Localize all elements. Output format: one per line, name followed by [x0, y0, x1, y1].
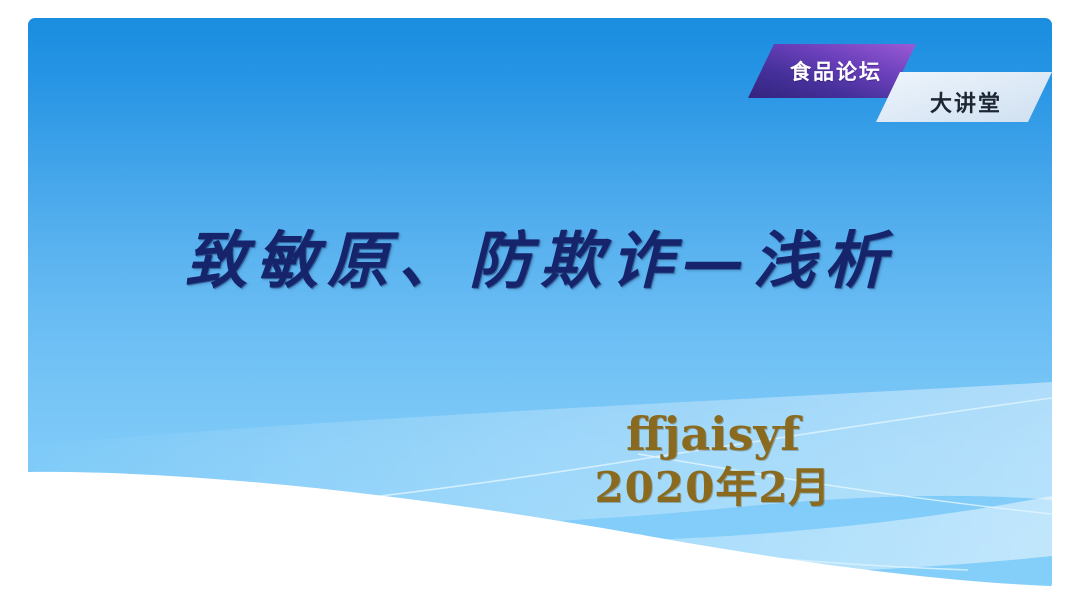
- slide-root: 食品论坛 大讲堂 致敏原、防欺诈—浅析 ffjaisyf 2020年2月: [0, 0, 1080, 608]
- byline-block: ffjaisyf 2020年2月: [498, 410, 928, 510]
- ribbon-badge-group: 食品论坛 大讲堂: [718, 36, 1052, 128]
- ribbon-forum-label: 食品论坛: [790, 56, 882, 86]
- slide-canvas: 食品论坛 大讲堂 致敏原、防欺诈—浅析 ffjaisyf 2020年2月: [28, 18, 1052, 590]
- byline-author: ffjaisyf: [498, 410, 928, 458]
- ribbon-hall-label: 大讲堂: [930, 86, 1002, 118]
- byline-date: 2020年2月: [498, 466, 928, 510]
- slide-title: 致敏原、防欺诈—浅析: [28, 224, 1052, 297]
- wave-secondary-white: [28, 500, 1052, 590]
